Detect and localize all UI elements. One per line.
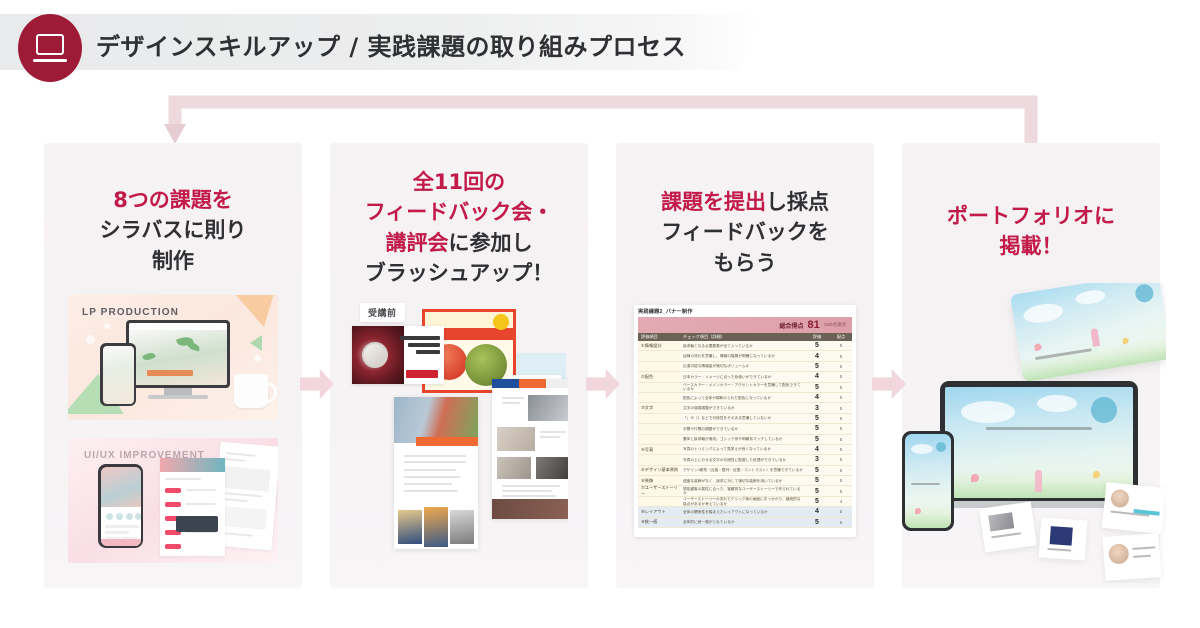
total-score-value: 81 — [807, 319, 819, 331]
step-4-title: ポートフォリオに 掲載！ — [902, 201, 1160, 262]
step-3-title-line-3: もらう — [624, 248, 866, 278]
score-row-value: 5 — [804, 497, 830, 506]
score-row-description: 想定顧客の属性に合った、客観的なユーザーストーリーで作られているか — [680, 486, 804, 495]
score-row-value: 4 — [804, 393, 830, 402]
score-row-max: 5 — [830, 341, 852, 350]
process-infographic: デザインスキルアップ / 実践課題の取り組みプロセス 8つの課題を シラバスに則… — [0, 0, 1200, 628]
score-sheet-total: 総合得点 81 /100点満点 — [638, 317, 852, 333]
lp-production-thumbnail: LP PRODUCTION — [68, 295, 278, 420]
score-row-max: 5 — [830, 466, 852, 475]
total-score-label: 総合得点 — [779, 321, 803, 330]
page-title: デザインスキルアップ / 実践課題の取り組みプロセス — [96, 27, 686, 62]
score-sheet-row: 書体と訴求軸が適切。ゴシック系や明朝系マッチしているか55 — [638, 435, 852, 445]
score-row-category: ②配色 — [638, 372, 680, 381]
mug-prop — [234, 374, 268, 408]
score-row-value: 5 — [804, 362, 830, 371]
score-row-description: 字間や行間の調整ができているか — [680, 424, 804, 433]
step-3-title: 課題を提出し採点 フィードバックを もらう — [616, 187, 874, 278]
score-row-category: ①情報設計 — [638, 341, 680, 350]
portfolio-sheet-2 — [1039, 517, 1088, 560]
score-row-value: 5 — [804, 414, 830, 423]
step-card-4[interactable]: ポートフォリオに 掲載！ — [902, 143, 1160, 588]
score-row-max: 5 — [830, 372, 852, 381]
score-row-max: 5 — [830, 476, 852, 485]
step-4-media — [902, 283, 1160, 583]
portfolio-sheet-4 — [1103, 533, 1162, 581]
score-sheet-table: ①情報設計訴求軸となる必要要素が全て入っているか55目線の流れを意識し、情報の階… — [638, 341, 852, 528]
score-row-description: 全体の関係性を踏まえたレイアウトになっているか — [680, 507, 804, 516]
score-row-max: 5 — [830, 507, 852, 516]
col-value: 評価 — [804, 333, 830, 341]
step-4-title-line-1: ポートフォリオに — [910, 201, 1152, 231]
score-row-max: 5 — [830, 424, 852, 433]
portfolio-thumbnail — [896, 283, 1166, 583]
score-row-value: 4 — [804, 351, 830, 360]
score-row-value: 3 — [804, 403, 830, 412]
score-sheet-row: ⑨統一感全体的に統一感がとれているか55 — [638, 518, 852, 528]
wireframe-cta-button — [176, 516, 218, 532]
col-max: 配点 — [830, 333, 852, 341]
score-row-max: 5 — [830, 414, 852, 423]
uiux-phone-mockup — [98, 464, 143, 548]
score-row-value: 5 — [804, 383, 830, 392]
score-sheet-row: 目線の流れを意識し、情報の階層が明確になっているか45 — [638, 351, 852, 361]
step-1-title: 8つの課題を シラバスに則り 制作 — [44, 185, 302, 276]
score-row-value: 4 — [804, 445, 830, 454]
portfolio-sheet-3 — [1102, 482, 1166, 534]
score-row-description: 文字の強弱調整ができているか — [680, 403, 804, 412]
step-3-title-line-1: 課題を提出し採点 — [624, 187, 866, 217]
step-2-media: 受講前 受講後期 — [330, 301, 588, 556]
score-row-value: 5 — [804, 518, 830, 527]
score-sheet-row: 字間や行間の調整ができているか55 — [638, 424, 852, 434]
step-3-media: 実践課題2_バナー制作 総合得点 81 /100点満点 評価項目 チェック項目（… — [616, 305, 874, 537]
lp-production-label: LP PRODUCTION — [82, 307, 179, 318]
score-row-max: 5 — [830, 351, 852, 360]
score-row-description: 写真のトリミングによって見栄えが良くなっているか — [680, 445, 804, 454]
step-3-title-line-2: フィードバックを — [624, 217, 866, 247]
score-row-max: 5 — [830, 455, 852, 464]
score-sheet-row: ⑦ユーザーストーリー想定顧客の属性に合った、客観的なユーザーストーリーで作られて… — [638, 486, 852, 496]
step-2-title-line-4: ブラッシュアップ！ — [338, 258, 580, 288]
score-row-max: 5 — [830, 435, 852, 444]
step-1-title-line-3: 制作 — [52, 246, 294, 276]
score-row-max: 5 — [830, 383, 852, 392]
score-sheet-row: ④写真写真のトリミングによって見栄えが良くなっているか45 — [638, 445, 852, 455]
phone-mockup — [100, 343, 136, 406]
step-1-media: LP PRODUCTION — [44, 295, 302, 563]
step-1-title-line-2: シラバスに則り — [52, 215, 294, 245]
score-sheet-row: ③文字文字の強弱調整ができているか35 — [638, 403, 852, 413]
score-row-max: 5 — [830, 362, 852, 371]
tag-before: 受講前 — [360, 303, 405, 322]
step-3-title-line-1-highlight: 課題を提出 — [661, 190, 766, 214]
score-sheet-row: 配色によって全体が調和のとれた配色になっているか45 — [638, 393, 852, 403]
step-arrow-1 — [300, 369, 334, 399]
step-2-title-line-1: 全11回の — [338, 167, 580, 197]
header: デザインスキルアップ / 実践課題の取り組みプロセス — [0, 14, 780, 82]
step-card-3[interactable]: 課題を提出し採点 フィードバックを もらう 実践課題2_バナー制作 総合得点 8… — [616, 143, 874, 588]
step-card-1[interactable]: 8つの課題を シラバスに則り 制作 LP PRODUCTION — [44, 143, 302, 588]
score-row-value: 5 — [804, 341, 830, 350]
score-row-description: 配色によって全体が調和のとれた配色になっているか — [680, 393, 804, 402]
score-row-description: 日本カラー／イメージに合った色使いができているか — [680, 372, 804, 381]
score-row-value: 4 — [804, 507, 830, 516]
tablet-mockup — [1010, 283, 1166, 382]
score-row-category — [638, 393, 680, 402]
total-score-max: /100点満点 — [824, 322, 846, 328]
score-sheet-thumbnail: 実践課題2_バナー制作 総合得点 81 /100点満点 評価項目 チェック項目（… — [634, 305, 856, 537]
wireframe-card-1 — [160, 458, 225, 556]
score-row-value: 5 — [804, 435, 830, 444]
score-row-category: ③文字 — [638, 403, 680, 412]
score-row-description: 全体的に統一感がとれているか — [680, 518, 804, 527]
score-row-category: ⑧レイアウト — [638, 507, 680, 516]
score-row-description: 目線の流れを意識し、情報の階層が明確になっているか — [680, 351, 804, 360]
score-row-description: ベースカラー・メインカラー・アクセントカラーを意識して配色できているか — [680, 383, 804, 392]
score-row-category — [638, 351, 680, 360]
score-sheet-row: ②配色日本カラー／イメージに合った色使いができているか45 — [638, 372, 852, 382]
score-row-value: 5 — [804, 476, 830, 485]
score-row-max: 5 — [830, 393, 852, 402]
score-row-category: ⑥装飾 — [638, 476, 680, 485]
score-row-value: 5 — [804, 424, 830, 433]
score-sheet-row: ⑤デザイン基本原則デザイン4原則（近接・整列・反復・コントラスト）を意識できてい… — [638, 466, 852, 476]
step-2-title-line-3-highlight: 講評会 — [386, 231, 449, 255]
score-row-description: 「」や（）などで可読性をそのまま意識していないか — [680, 414, 804, 423]
score-row-category — [638, 497, 680, 506]
score-row-max: 5 — [830, 486, 852, 495]
uiux-improvement-thumbnail: UI/UX IMPROVEMENT — [68, 438, 278, 563]
score-sheet-row: ユーザーストーリーの流れでクリック後の画面に引っかかり、継続的な接点があるか考え… — [638, 497, 852, 507]
step-card-2[interactable]: 全11回の フィードバック会・ 講評会に参加し ブラッシュアップ！ — [330, 143, 588, 588]
score-row-value: 5 — [804, 486, 830, 495]
score-row-max: 5 — [830, 403, 852, 412]
step-3-title-line-1-tail: し採点 — [766, 190, 829, 214]
score-sheet-row: 写真の上にのせる文字の可読性に配慮した処理ができているか35 — [638, 455, 852, 465]
score-sheet-row: ⑧レイアウト全体の関係性を踏まえたレイアウトになっているか45 — [638, 507, 852, 517]
score-row-max: 5 — [830, 518, 852, 527]
score-sheet-title: 実践課題2_バナー制作 — [638, 308, 693, 315]
col-check: チェック項目（詳細） — [680, 333, 804, 341]
score-row-value: 4 — [804, 372, 830, 381]
score-row-category: ⑨統一感 — [638, 518, 680, 527]
score-row-description: 過度な装飾がなく、訴求に対して適切な装飾を用いているか — [680, 476, 804, 485]
col-category: 評価項目 — [638, 333, 680, 341]
monitor-mockup — [126, 320, 230, 388]
score-row-category — [638, 362, 680, 371]
score-row-description: ユーザーストーリーの流れでクリック後の画面に引っかかり、継続的な接点があるか考え… — [680, 497, 804, 506]
score-row-value: 5 — [804, 466, 830, 475]
score-row-category: ④写真 — [638, 445, 680, 454]
score-sheet-columns: 評価項目 チェック項目（詳細） 評価 配点 — [638, 333, 852, 341]
score-row-value: 3 — [804, 455, 830, 464]
after-site-mockup-2 — [492, 379, 568, 519]
score-row-max: 5 — [830, 445, 852, 454]
score-sheet-row: 「」や（）などで可読性をそのまま意識していないか55 — [638, 414, 852, 424]
score-row-description: デザイン4原則（近接・整列・反復・コントラスト）を意識できているか — [680, 466, 804, 475]
score-row-category — [638, 424, 680, 433]
process-steps: 8つの課題を シラバスに則り 制作 LP PRODUCTION — [0, 143, 1200, 588]
score-sheet-row: ①情報設計訴求軸となる必要要素が全て入っているか55 — [638, 341, 852, 351]
score-row-description: 写真の上にのせる文字の可読性に配慮した処理ができているか — [680, 455, 804, 464]
score-row-category — [638, 414, 680, 423]
score-sheet-row: ベースカラー・メインカラー・アクセントカラーを意識して配色できているか55 — [638, 383, 852, 393]
step-2-title-line-3: 講評会に参加し — [338, 228, 580, 258]
score-row-category — [638, 383, 680, 392]
portfolio-sheet-1 — [979, 502, 1037, 553]
score-row-category — [638, 455, 680, 464]
score-row-max: 4 — [830, 497, 852, 506]
score-row-category: ⑤デザイン基本原則 — [638, 466, 680, 475]
score-sheet-row: 伝達可能な情報量が適切なボリュームか55 — [638, 362, 852, 372]
step-2-title-line-3-tail: に参加し — [449, 231, 533, 255]
step-2-title: 全11回の フィードバック会・ 講評会に参加し ブラッシュアップ！ — [330, 167, 588, 289]
step-1-title-line-1: 8つの課題を — [52, 185, 294, 215]
score-row-category — [638, 435, 680, 444]
step-2-title-line-2: フィードバック会・ — [338, 197, 580, 227]
step-4-title-line-2: 掲載！ — [910, 231, 1152, 261]
score-row-description: 伝達可能な情報量が適切なボリュームか — [680, 362, 804, 371]
score-row-description: 訴求軸となる必要要素が全て入っているか — [680, 341, 804, 350]
after-site-mockup-1 — [394, 397, 478, 549]
before-after-thumbnail: 受講前 受講後期 — [350, 301, 568, 556]
step-arrow-2 — [586, 369, 620, 399]
score-row-description: 書体と訴求軸が適切。ゴシック系や明朝系マッチしているか — [680, 435, 804, 444]
watch-banner-sample — [352, 326, 444, 384]
laptop-icon — [18, 14, 82, 82]
portfolio-phone-mockup — [902, 431, 954, 531]
score-row-category: ⑦ユーザーストーリー — [638, 486, 680, 495]
